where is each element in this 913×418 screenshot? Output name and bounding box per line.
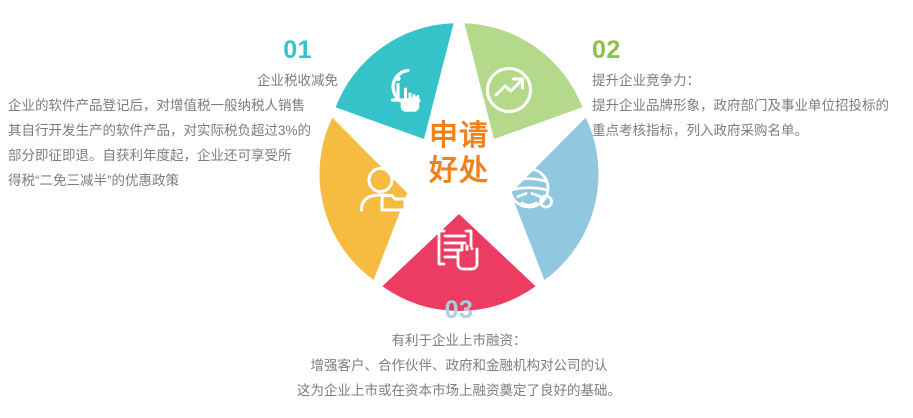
benefit-body-03: 增强客户、合作伙伴、政府和金融机构对公司的认 这为企业上市或在资本市场上融资奠定…: [253, 354, 665, 404]
benefit-body-02-line-1: 提升企业品牌形象，政府部门及事业单位招投标的: [592, 94, 908, 119]
benefit-block-tax-reduction: 01 企业税收减免 企业的软件产品登记后，对增值税一般纳税人销售 其自行开发生产…: [8, 38, 338, 194]
benefit-body-01-line-2: 其自行开发生产的软件产品，对实际税负超过3%的: [8, 119, 338, 144]
benefits-wheel: [323, 18, 595, 290]
benefit-subtitle-02: 提升企业竞争力：: [592, 69, 908, 94]
benefit-subtitle-03: 有利于企业上市融资：: [253, 329, 665, 354]
benefit-body-03-line-2: 这为企业上市或在资本市场上融资奠定了良好的基础。: [253, 379, 665, 404]
benefit-body-02-line-2: 重点考核指标，列入政府采购名单。: [592, 119, 908, 144]
benefit-body-02: 提升企业品牌形象，政府部门及事业单位招投标的 重点考核指标，列入政府采购名单。: [592, 94, 908, 144]
document-hand-icon: [439, 231, 477, 269]
benefit-body-01-line-3: 部分即征即退。自获利年度起，企业还可享受所: [8, 144, 338, 169]
benefit-block-competitiveness: 02 提升企业竞争力： 提升企业品牌形象，政府部门及事业单位招投标的 重点考核指…: [592, 38, 908, 144]
benefit-subtitle-01: 企业税收减免: [8, 69, 338, 94]
infographic-root: 申请 好处 01 企业税收减免 企业的软件产品登记后，对增值税一般纳税人销售 其…: [0, 0, 913, 418]
benefit-body-01-line-4: 得税“二免三减半”的优惠政策: [8, 169, 338, 194]
wheel-segment-brand-image[interactable]: [511, 118, 599, 280]
benefit-number-02: 02: [592, 38, 908, 63]
benefit-body-01: 企业的软件产品登记后，对增值税一般纳税人销售 其自行开发生产的软件产品，对实际税…: [8, 94, 338, 194]
benefit-body-03-line-1: 增强客户、合作伙伴、政府和金融机构对公司的认: [253, 354, 665, 379]
benefit-number-01: 01: [8, 38, 338, 63]
benefit-number-03: 03: [253, 298, 665, 323]
benefit-block-listing-financing: 03 有利于企业上市融资： 增强客户、合作伙伴、政府和金融机构对公司的认 这为企…: [253, 298, 665, 404]
benefit-body-01-line-1: 企业的软件产品登记后，对增值税一般纳税人销售: [8, 94, 338, 119]
